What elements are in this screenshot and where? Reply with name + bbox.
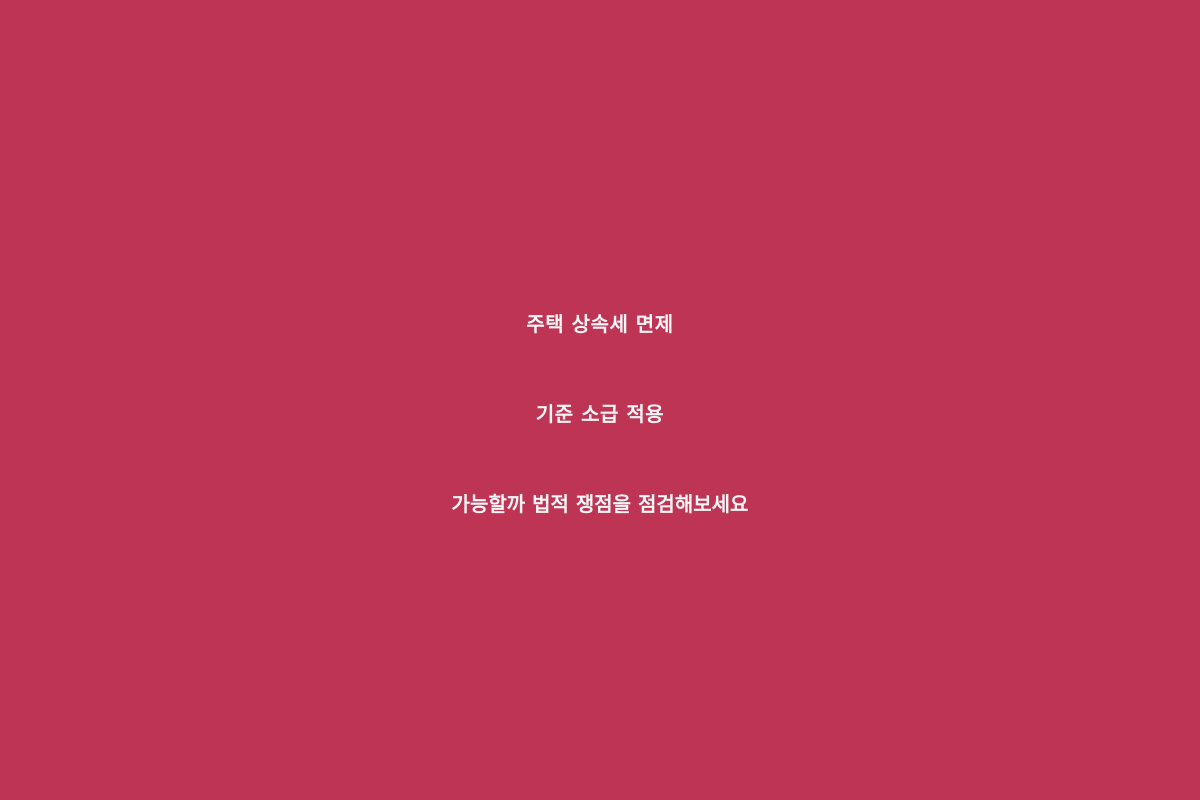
- headline-line-1: 주택 상속세 면제: [0, 279, 1200, 369]
- headline-block: 주택 상속세 면제 기준 소급 적용 가능할까 법적 쟁점을 점검해보세요: [0, 279, 1200, 549]
- thumbnail-card: 주택 상속세 면제 기준 소급 적용 가능할까 법적 쟁점을 점검해보세요: [0, 0, 1200, 800]
- headline-line-3: 가능할까 법적 쟁점을 점검해보세요: [0, 459, 1200, 549]
- headline-line-2: 기준 소급 적용: [0, 369, 1200, 459]
